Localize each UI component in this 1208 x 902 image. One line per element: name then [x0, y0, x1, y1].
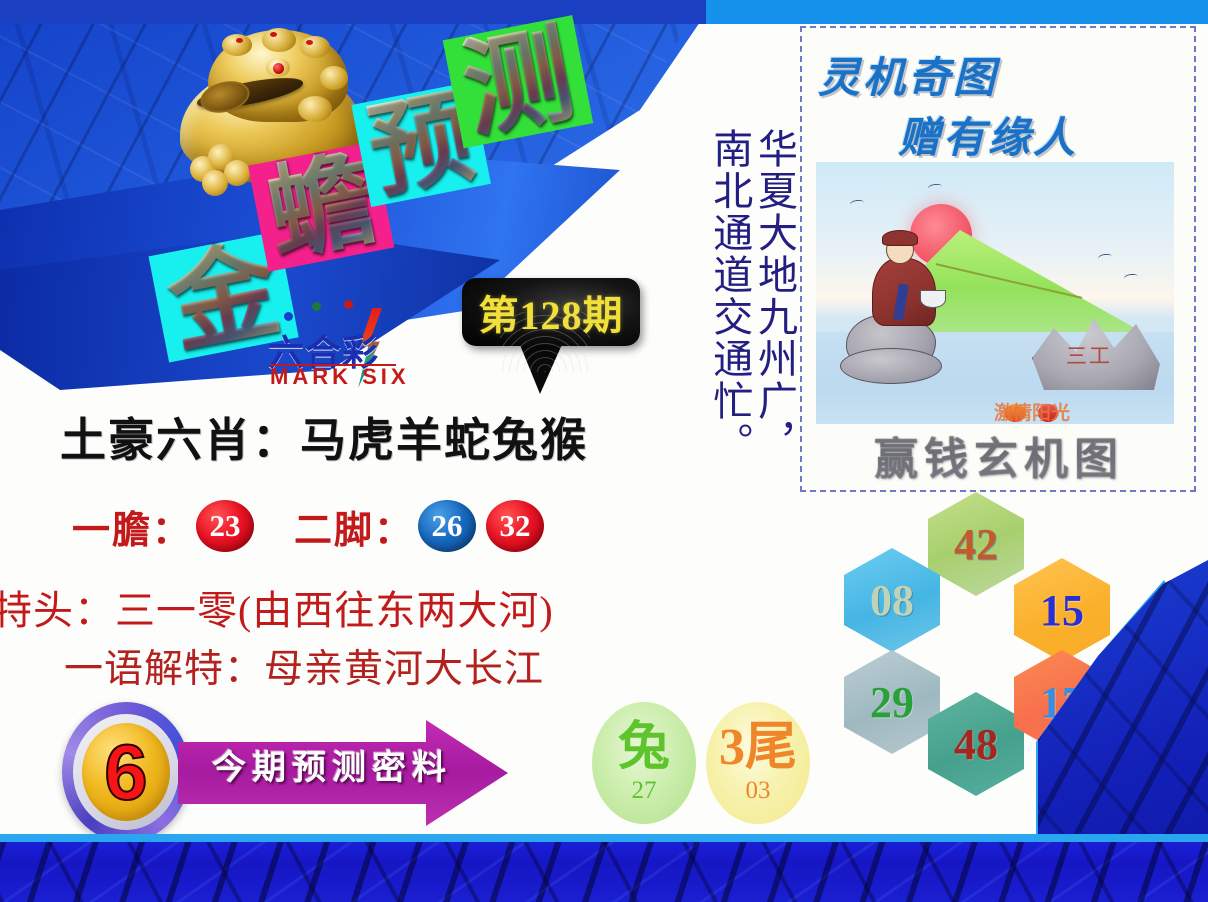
special-head-line: 特头：三一零(由西往东两大河): [0, 578, 554, 636]
bird-icon: [928, 183, 943, 192]
jiao-label: 二脚：: [294, 499, 414, 554]
egg-badge-tail: 3尾 03: [706, 702, 810, 824]
hexagon-number[interactable]: 42: [928, 492, 1024, 596]
ball-jiao-1: 26: [418, 500, 476, 552]
mystic-chart-panel: 灵机奇图 赠有缘人 三工 激情阳光 赢钱玄机图: [800, 26, 1196, 492]
egg-zodiac-sub: 27: [632, 777, 657, 805]
hexagon-number[interactable]: 48: [928, 692, 1024, 796]
bird-icon: [1098, 253, 1113, 262]
arrow-banner-label: 今期预测密料: [212, 742, 482, 786]
egg-tail-sub: 03: [746, 777, 771, 805]
number-balls-row: 一膽： 23 二脚： 26 32: [72, 494, 592, 558]
vertical-poem: 华夏大地九州广， 南北通道交通忙。: [676, 128, 794, 508]
panel-headline-1: 灵机奇图: [818, 44, 1178, 105]
badge-number: 6: [104, 733, 147, 811]
panel-bottom-title: 赢钱玄机图: [816, 426, 1182, 484]
poem-column-left: 南北通道交通忙。: [708, 128, 749, 508]
bird-icon: [850, 199, 865, 208]
zodiac-prediction-line: 土豪六肖：马虎羊蛇兔猴: [60, 404, 680, 470]
ball-jiao-2: 32: [486, 500, 544, 552]
bubble-ripple-decoration: [500, 312, 590, 372]
bottom-band-pattern: [0, 842, 1208, 902]
top-bar-left-segment: [0, 0, 706, 24]
number-six-badge: 6: [62, 702, 190, 842]
hexagon-number[interactable]: 15: [1014, 558, 1110, 662]
fisherman-hat: [882, 230, 918, 246]
riddle-line: 一语解特：母亲黄河大长江: [64, 638, 544, 694]
mark-six-logo: 六合彩 MARK SIX: [258, 300, 423, 392]
hexagon-number[interactable]: 29: [844, 650, 940, 754]
rock-left-base: [840, 348, 942, 384]
egg-badge-zodiac: 兔 27: [592, 702, 696, 824]
hexagon-number[interactable]: 08: [844, 548, 940, 652]
dan-label: 一膽：: [72, 499, 192, 554]
mark-six-logo-en: MARK SIX: [270, 364, 410, 390]
rock-inscription: 三工: [1066, 340, 1112, 370]
ball-dan: 23: [196, 500, 254, 552]
title-char-4: 测: [443, 15, 594, 148]
fisherman-bowl: [920, 290, 946, 308]
poster-canvas: 金 蟾 预 测 六合彩 MARK SIX 第128期 土豪六肖：马虎羊蛇兔猴 一…: [0, 0, 1208, 902]
fisherman-illustration: 三工 激情阳光: [816, 162, 1174, 424]
egg-zodiac-main: 兔: [618, 721, 670, 775]
poem-column-right: 华夏大地九州广，: [753, 128, 794, 508]
panel-headline-2: 赠有缘人: [898, 104, 1198, 165]
bottom-accent-line: [0, 834, 1208, 842]
illustration-watermark: 激情阳光: [994, 398, 1174, 424]
bird-icon: [1124, 273, 1139, 282]
egg-tail-main: 3尾: [719, 721, 797, 775]
